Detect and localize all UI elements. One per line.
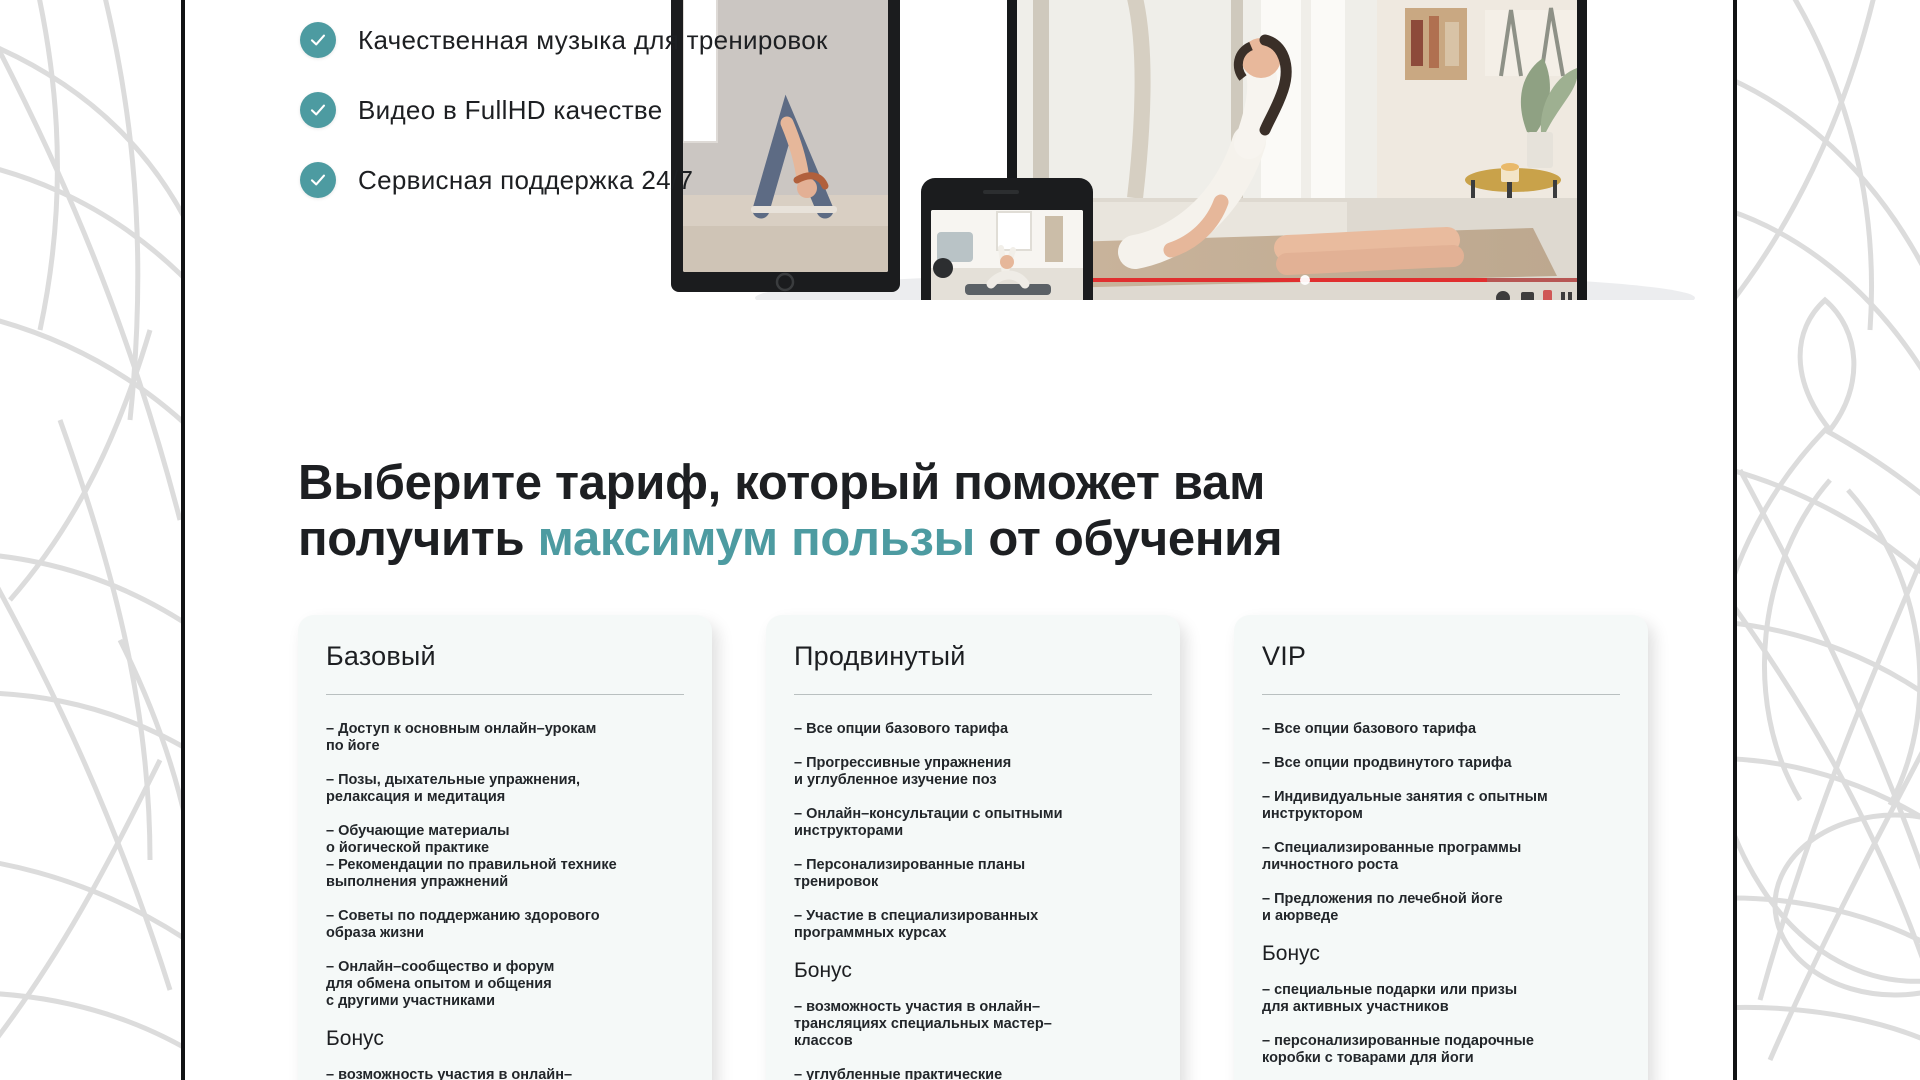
pricing-feature: – Все опции базового тарифа <box>794 721 1152 738</box>
pricing-bonus-item: – персонализированные подарочные коробки… <box>1262 1033 1620 1067</box>
background-mandala-pattern-left <box>0 0 200 1080</box>
pricing-bonus-item: – углубленные практические <box>794 1067 1152 1080</box>
pricing-card-divider <box>1262 694 1620 695</box>
pricing-card-advanced[interactable]: Продвинутый – Все опции базового тарифа … <box>766 615 1180 1080</box>
headline-line-1: Выберите тариф, который поможет вам <box>298 456 1265 510</box>
pricing-card-vip[interactable]: VIP – Все опции базового тарифа – Все оп… <box>1234 615 1648 1080</box>
pricing-feature: – Советы по поддержанию здорового образа… <box>326 908 684 942</box>
pricing-feature: – Онлайн–сообщество и форум для обмена о… <box>326 959 684 1010</box>
feature-item: Сервисная поддержка 24/7 <box>300 162 940 198</box>
pricing-bonus-heading: Бонус <box>794 959 1152 983</box>
pricing-card-divider <box>794 694 1152 695</box>
feature-label: Видео в FullHD качестве <box>358 95 663 126</box>
feature-list: Качественная музыка для тренировок Видео… <box>300 22 940 232</box>
page-content: MacBook <box>185 0 1733 1080</box>
pricing-feature: – Позы, дыхательные упражнения, релаксац… <box>326 772 684 806</box>
background-mandala-pattern-right <box>1730 0 1920 1080</box>
pricing-bonus-item: – специальные подарки или призы для акти… <box>1262 982 1620 1016</box>
pricing-feature: – Индивидуальные занятия с опытным инстр… <box>1262 789 1620 823</box>
pricing-feature: – Предложения по лечебной йоге и аюрведе <box>1262 891 1620 925</box>
feature-item: Видео в FullHD качестве <box>300 92 940 128</box>
feature-item: Качественная музыка для тренировок <box>300 22 940 58</box>
pricing-bonus-item: – возможность участия в онлайн– трансляц… <box>794 999 1152 1050</box>
check-circle-icon <box>300 92 336 128</box>
pricing-card-divider <box>326 694 684 695</box>
pricing-bonus-heading: Бонус <box>326 1027 684 1051</box>
pricing-feature: – Прогрессивные упражнения и углубленное… <box>794 755 1152 789</box>
headline-accent: максимум пользы <box>538 512 975 566</box>
page-root: MacBook <box>0 0 1920 1080</box>
pricing-feature: – Все опции продвинутого тарифа <box>1262 755 1620 772</box>
page-title: Выберите тариф, который поможет вам полу… <box>298 455 1458 567</box>
headline-line-2-before: получить <box>298 512 538 566</box>
pricing-card-title: Базовый <box>326 641 684 672</box>
pricing-bonus-heading: Бонус <box>1262 942 1620 966</box>
check-circle-icon <box>300 22 336 58</box>
pricing-feature: – Все опции базового тарифа <box>1262 721 1620 738</box>
page-rule-right <box>1733 0 1737 1080</box>
feature-label: Сервисная поддержка 24/7 <box>358 165 693 196</box>
check-circle-icon <box>300 162 336 198</box>
pricing-feature: – Доступ к основным онлайн–урокам по йог… <box>326 721 684 755</box>
headline-line-2-after: от обучения <box>975 512 1282 566</box>
pricing-bonus-item: – возможность участия в онлайн– <box>326 1067 684 1080</box>
feature-label: Качественная музыка для тренировок <box>358 25 828 56</box>
pricing-card-list: Базовый – Доступ к основным онлайн–урока… <box>298 615 1678 1080</box>
pricing-feature: – Обучающие материалы о йогической практ… <box>326 823 684 891</box>
pricing-feature: – Персонализированные планы тренировок <box>794 857 1152 891</box>
pricing-card-title: Продвинутый <box>794 641 1152 672</box>
pricing-feature: – Онлайн–консультации с опытными инструк… <box>794 806 1152 840</box>
pricing-feature: – Специализированные программы личностно… <box>1262 840 1620 874</box>
pricing-card-title: VIP <box>1262 641 1620 672</box>
pricing-feature: – Участие в специализированных программн… <box>794 908 1152 942</box>
pricing-card-basic[interactable]: Базовый – Доступ к основным онлайн–урока… <box>298 615 712 1080</box>
